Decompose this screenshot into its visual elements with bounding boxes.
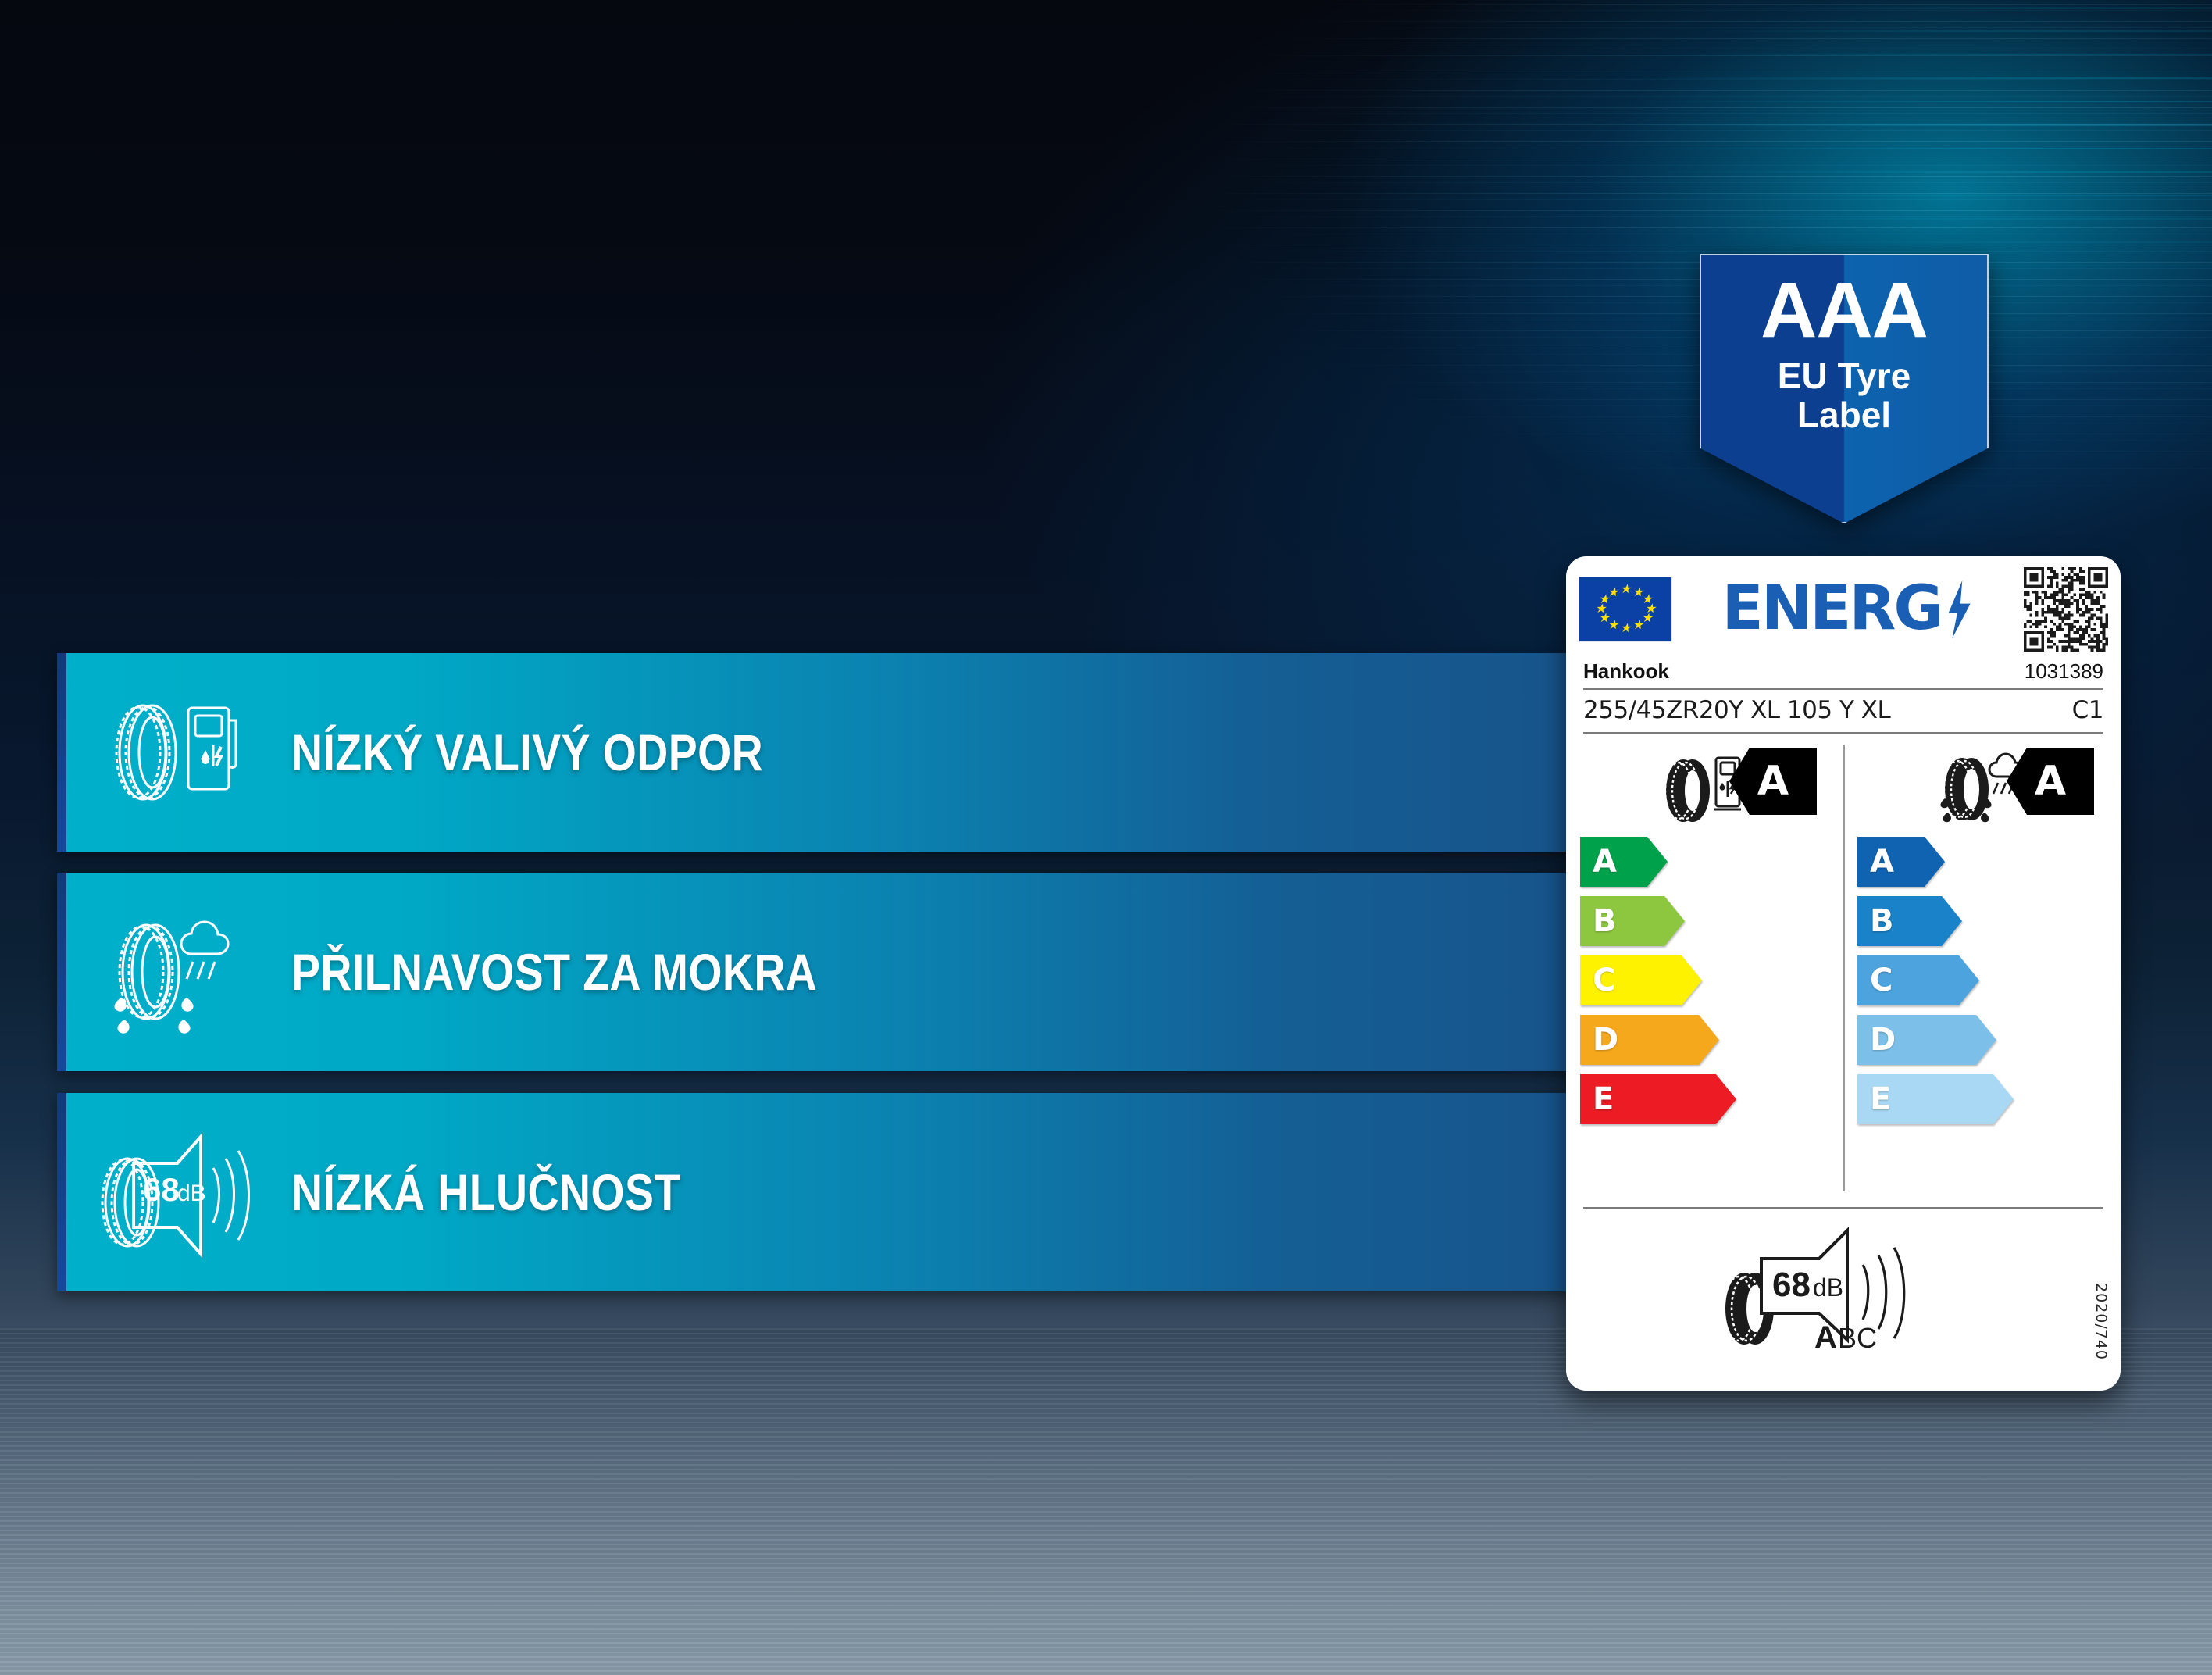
wet-grip-scale: ABCDE xyxy=(1843,837,2121,1124)
feature-label: PŘILNAVOST ZA MOKRA xyxy=(291,942,817,1002)
rating-arrow: E xyxy=(1857,1074,2014,1124)
noise-value: 68 xyxy=(1772,1266,1811,1304)
qr-code-icon xyxy=(2024,567,2108,652)
fuel-efficiency-scale: ABCDE xyxy=(1566,837,1843,1124)
energy-wordmark: ENERG xyxy=(1680,580,2016,638)
tyre-fuel-pump-icon xyxy=(57,686,291,819)
fuel-efficiency-section: ABCDE A xyxy=(1566,741,1843,1202)
feature-banner-rolling-resistance: NÍZKÝ VALIVÝ ODPOR xyxy=(57,653,1589,852)
feature-banner-noise: 68 dB NÍZKÁ HLUČNOST xyxy=(57,1093,1611,1291)
eu-flag-icon: ★★★★★★★★★★★★ xyxy=(1579,577,1672,642)
rating-arrow: D xyxy=(1857,1015,1996,1065)
noise-unit: dB xyxy=(1813,1273,1843,1302)
rating-arrow: A xyxy=(1857,837,1945,887)
feature-label: NÍZKÝ VALIVÝ ODPOR xyxy=(291,723,763,782)
rating-arrow: C xyxy=(1580,955,1702,1005)
badge-subtitle-line1: EU Tyre xyxy=(1778,357,1911,396)
energ-text: ENERG xyxy=(1722,583,1942,635)
rating-arrow: C xyxy=(1857,955,1979,1005)
model-code: 1031389 xyxy=(2025,659,2103,684)
badge-rating: AAA xyxy=(1761,271,1928,349)
feature-label: NÍZKÁ HLUČNOST xyxy=(291,1162,681,1222)
wet-grip-section: ABCDE A xyxy=(1843,741,2121,1202)
eu-tyre-label-card: ★★★★★★★★★★★★ ENERG Hankook 1031389 255/4… xyxy=(1566,556,2121,1391)
brand-name: Hankook xyxy=(1583,659,1669,684)
tyre-size: 255/45ZR20Y XL 105 Y XL xyxy=(1583,696,1890,724)
rating-arrow: B xyxy=(1580,896,1685,946)
tyre-class: C1 xyxy=(2072,696,2103,724)
noise-class-selected: A xyxy=(1814,1320,1837,1355)
noise-section: 68 dB A BC 2020/740 xyxy=(1566,1209,2121,1380)
tyre-rain-cloud-icon xyxy=(57,905,291,1038)
aaa-eu-tyre-label-badge: AAA EU Tyre Label xyxy=(1700,254,1989,523)
badge-subtitle-line2: Label xyxy=(1778,396,1911,435)
feature-banner-wet-grip: PŘILNAVOST ZA MOKRA xyxy=(57,873,1611,1071)
tyre-speaker-icon: 68 dB A BC xyxy=(1714,1224,1972,1365)
svg-text:dB: dB xyxy=(177,1180,206,1206)
poster-canvas: NÍZKÝ VALIVÝ ODPOR PŘILNAVOST ZA MOKRA xyxy=(0,0,2212,1675)
tyre-speaker-icon: 68 dB xyxy=(57,1126,291,1259)
regulation-number: 2020/740 xyxy=(2092,1283,2110,1360)
noise-class-rest: BC xyxy=(1838,1322,1877,1354)
rating-arrow: A xyxy=(1580,837,1668,887)
rating-arrow: B xyxy=(1857,896,1962,946)
svg-text:68: 68 xyxy=(143,1171,180,1208)
rating-arrow: E xyxy=(1580,1074,1736,1124)
lightning-bolt-icon xyxy=(1943,580,1974,638)
rating-arrow: D xyxy=(1580,1015,1719,1065)
